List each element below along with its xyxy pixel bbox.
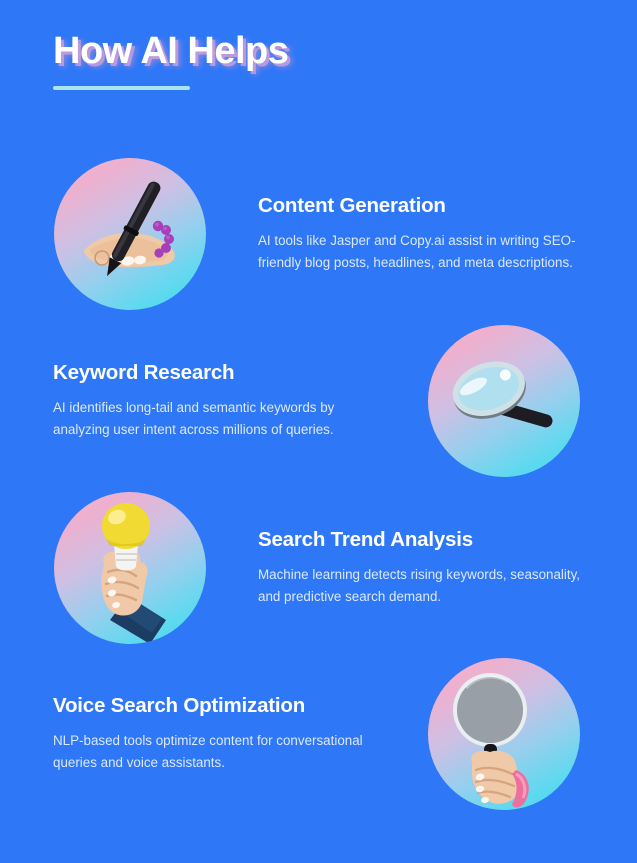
section-body: AI identifies long-tail and semantic key… bbox=[53, 397, 378, 440]
infographic-poster: How AI Helps bbox=[0, 0, 637, 863]
section-text-2: Keyword Research AI identifies long-tail… bbox=[53, 361, 428, 440]
section-heading: Content Generation bbox=[258, 194, 597, 218]
section-heading: Keyword Research bbox=[53, 361, 378, 385]
section-row-1: Content Generation AI tools like Jasper … bbox=[0, 158, 637, 310]
section-text-1: Content Generation AI tools like Jasper … bbox=[206, 194, 597, 273]
hand-writing-pen-icon bbox=[54, 158, 206, 310]
section-body: AI tools like Jasper and Copy.ai assist … bbox=[258, 230, 597, 273]
magnifying-glass-icon bbox=[428, 325, 580, 477]
page-title: How AI Helps bbox=[53, 32, 288, 70]
section-heading: Voice Search Optimization bbox=[53, 694, 378, 718]
section-text-4: Voice Search Optimization NLP-based tool… bbox=[53, 694, 428, 773]
title-underline bbox=[53, 86, 190, 90]
section-body: NLP-based tools optimize content for con… bbox=[53, 730, 378, 773]
section-heading: Search Trend Analysis bbox=[258, 528, 597, 552]
section-row-2: Keyword Research AI identifies long-tail… bbox=[0, 325, 637, 477]
section-row-3: Search Trend Analysis Machine learning d… bbox=[0, 492, 637, 644]
section-text-3: Search Trend Analysis Machine learning d… bbox=[206, 528, 597, 607]
section-body: Machine learning detects rising keywords… bbox=[258, 564, 597, 607]
title-block: How AI Helps bbox=[53, 32, 288, 90]
hand-holding-lightbulb-icon bbox=[54, 492, 206, 644]
hand-holding-magnifier-icon bbox=[428, 658, 580, 810]
section-row-4: Voice Search Optimization NLP-based tool… bbox=[0, 658, 637, 810]
